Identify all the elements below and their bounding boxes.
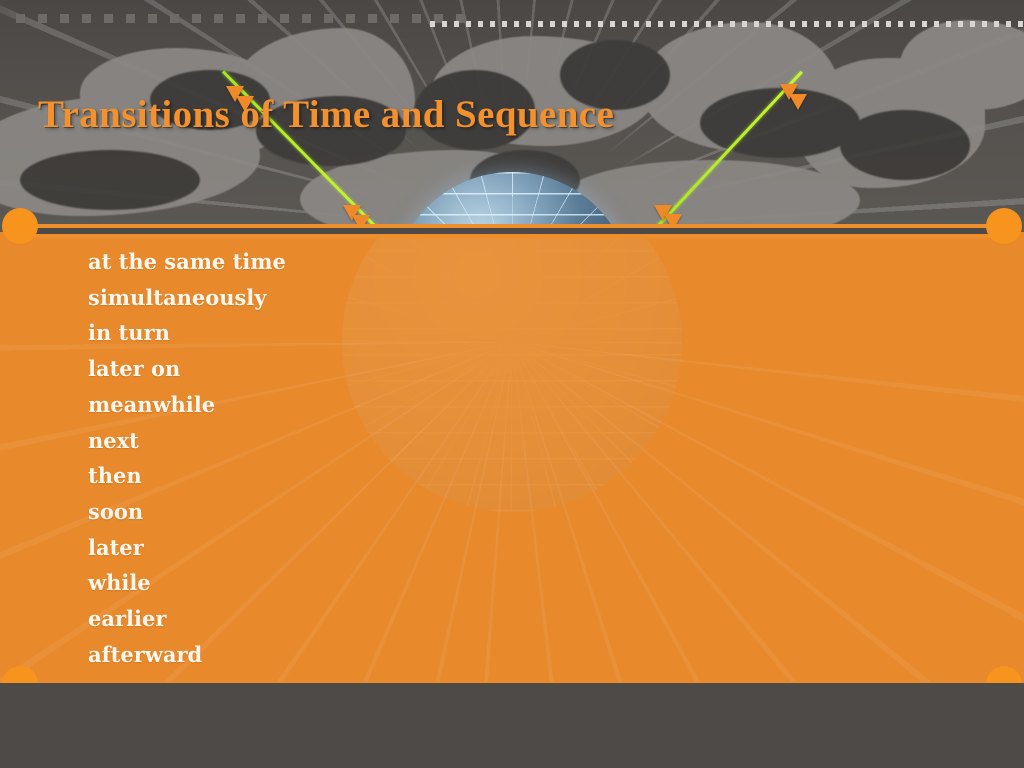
list-item: earlier bbox=[88, 601, 286, 637]
list-item: while bbox=[88, 565, 286, 601]
page-title: Transitions of Time and Sequence bbox=[38, 92, 614, 137]
presentation-slide: Transitions of Time and Sequence at the … bbox=[0, 0, 1024, 768]
list-item: next bbox=[88, 423, 286, 459]
list-item: at the same time bbox=[88, 244, 286, 280]
list-item: later on bbox=[88, 351, 286, 387]
bar-end-cap-right bbox=[986, 208, 1022, 244]
slide-footer bbox=[0, 683, 1024, 768]
list-item: soon bbox=[88, 494, 286, 530]
list-item: simultaneously bbox=[88, 280, 286, 316]
transition-word-list: at the same time simultaneously in turn … bbox=[88, 244, 286, 672]
bar-end-cap-left bbox=[2, 208, 38, 244]
list-item: in turn bbox=[88, 315, 286, 351]
dotted-rule-small bbox=[430, 21, 1024, 27]
divider-line-lower bbox=[20, 234, 1008, 238]
panel-globe-watermark bbox=[342, 232, 682, 512]
top-divider-bar bbox=[0, 208, 1024, 248]
list-item: then bbox=[88, 458, 286, 494]
dotted-rule-large bbox=[16, 14, 472, 23]
list-item: meanwhile bbox=[88, 387, 286, 423]
location-pin-marker bbox=[789, 94, 807, 110]
list-item: later bbox=[88, 530, 286, 566]
